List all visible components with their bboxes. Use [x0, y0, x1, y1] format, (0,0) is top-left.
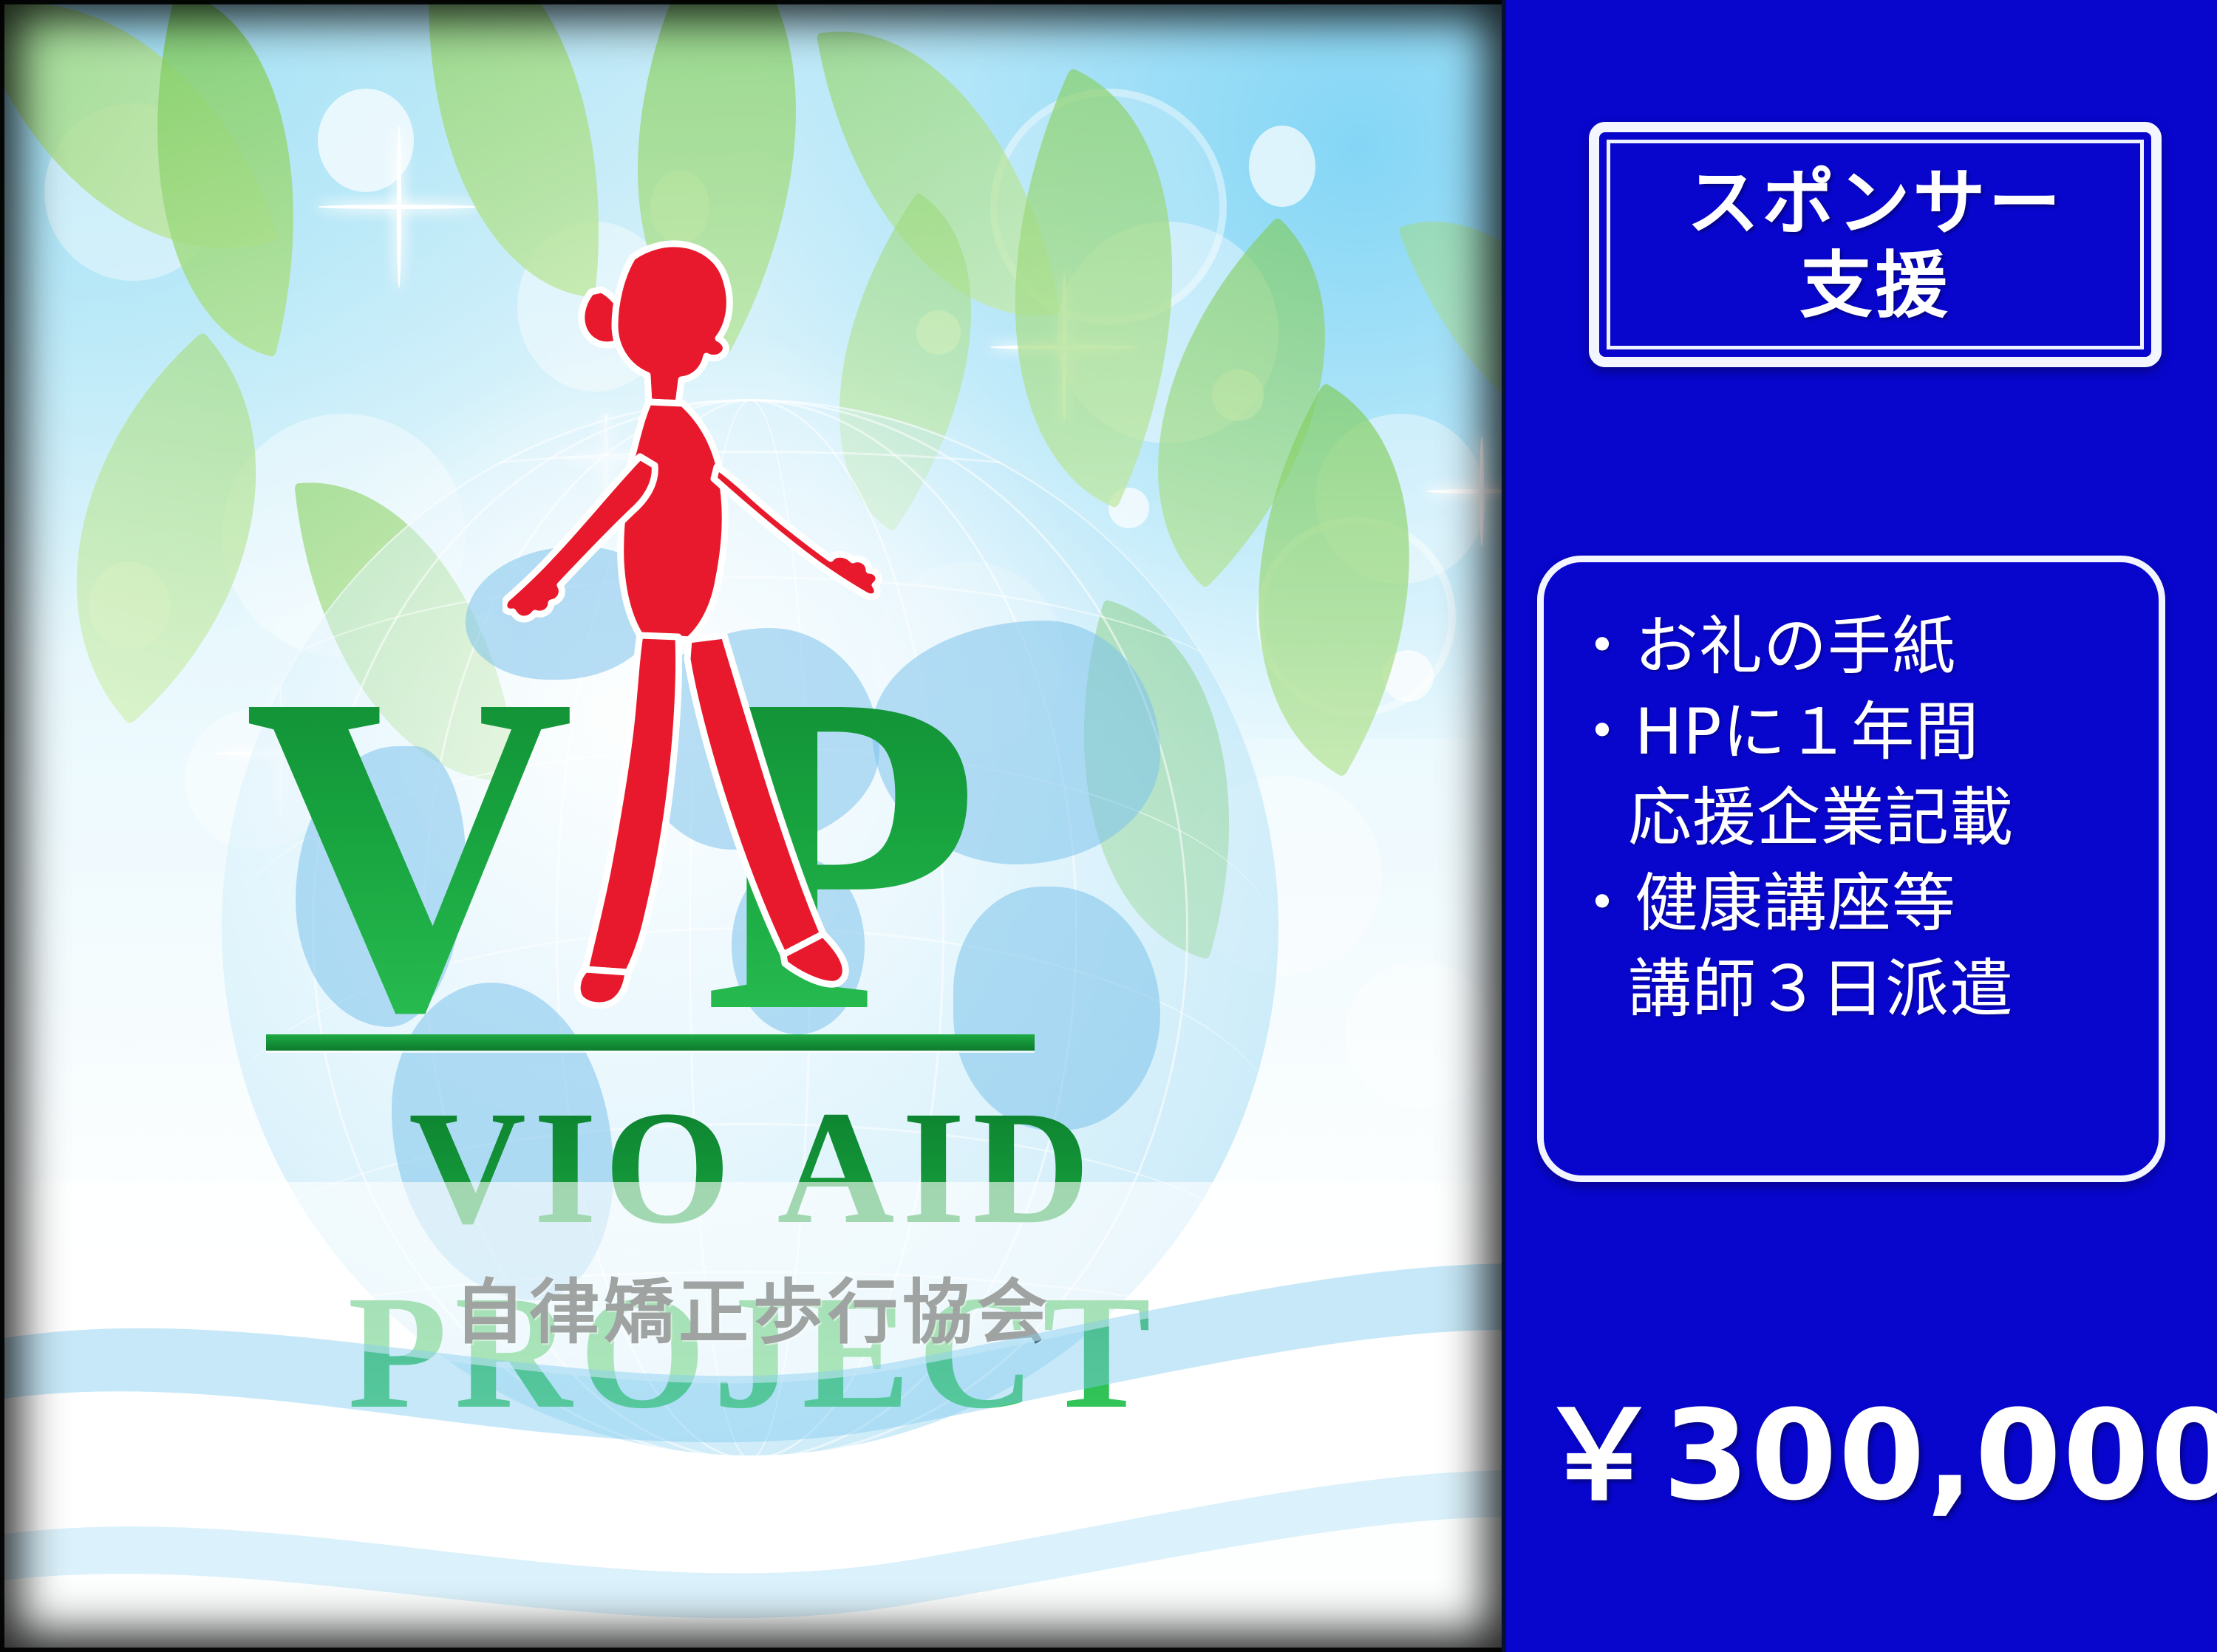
benefit-item-2-continuation: 講師３日派遣	[1570, 946, 2144, 1032]
price-amount: ￥300,000	[1537, 1389, 2187, 1522]
benefit-text: お礼の手紙	[1635, 610, 1956, 683]
wave-decoration	[0, 1182, 1506, 1652]
sponsor-header-box: スポンサー 支援	[1589, 122, 2162, 367]
sponsor-header-line1: スポンサー	[1686, 162, 2063, 245]
benefits-box: ・お礼の手紙 ・HPに１年間 応援企業記載 ・健康講座等 講師３日派遣	[1537, 556, 2165, 1182]
benefit-bullet: ・	[1570, 867, 1635, 941]
benefit-item-0: ・お礼の手紙	[1570, 604, 2144, 689]
benefit-item-2: ・健康講座等	[1570, 861, 2144, 946]
benefit-text: 健康講座等	[1635, 867, 1956, 941]
sponsor-tier-card: VP	[0, 0, 2217, 1652]
benefit-item-1: ・HPに１年間	[1570, 689, 2144, 775]
benefits-list: ・お礼の手紙 ・HPに１年間 応援企業記載 ・健康講座等 講師３日派遣	[1570, 604, 2144, 1032]
benefit-item-1-continuation: 応援企業記載	[1570, 775, 2144, 861]
walking-woman-silhouette	[503, 222, 916, 1093]
benefit-bullet: ・	[1570, 610, 1635, 683]
sponsor-header-line2: 支援	[1799, 245, 1950, 327]
benefit-text: HPに１年間	[1635, 695, 1980, 769]
benefit-bullet: ・	[1570, 695, 1635, 769]
logo-artwork-panel: VP	[0, 0, 1506, 1652]
